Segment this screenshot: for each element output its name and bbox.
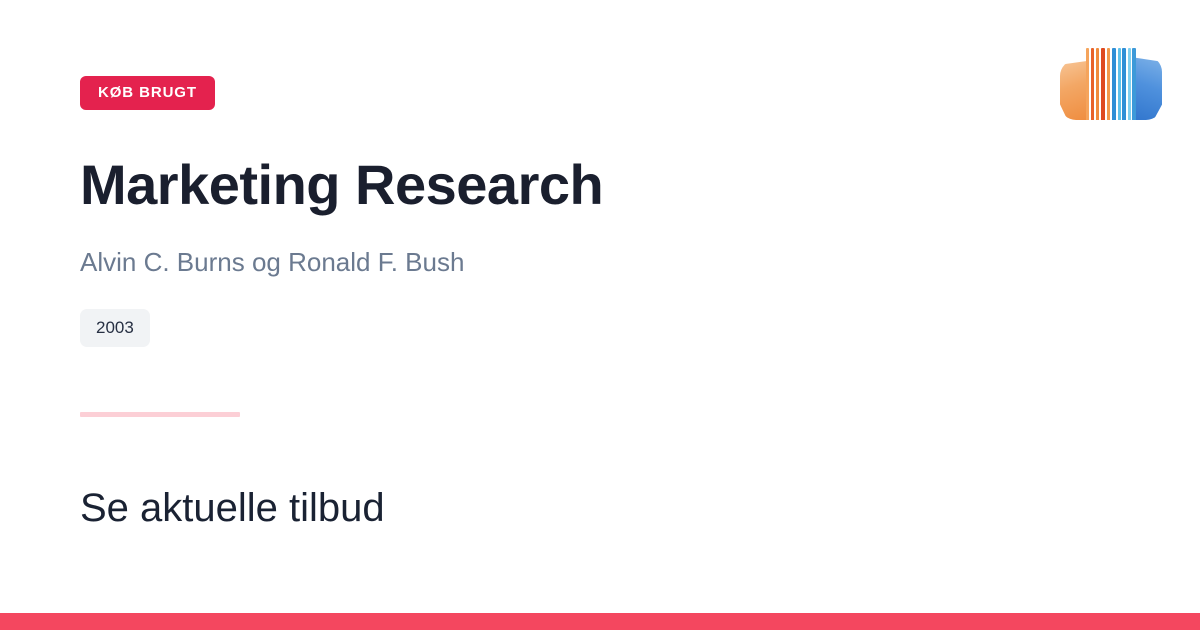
site-logo[interactable]: [1056, 48, 1164, 160]
logo-reflection-inner: [1056, 122, 1164, 158]
page-title: Marketing Research: [80, 155, 603, 215]
footer-accent-bar: [0, 613, 1200, 630]
logo-barcode-stripes-icon: [1086, 48, 1136, 120]
book-year-chip: 2003: [80, 309, 150, 347]
badge-row: KØB BRUGT: [80, 76, 215, 110]
logo-reflection: [1056, 122, 1164, 158]
logo-stripe: [1132, 48, 1136, 120]
share-card: KØB BRUGT Marketing Research Alvin C. Bu…: [0, 0, 1200, 630]
book-authors: Alvin C. Burns og Ronald F. Bush: [80, 246, 464, 280]
section-divider: [80, 412, 240, 417]
logo-mark: [1056, 48, 1164, 120]
status-badge-kob-brugt[interactable]: KØB BRUGT: [80, 76, 215, 110]
cta-se-aktuelle-tilbud[interactable]: Se aktuelle tilbud: [80, 484, 385, 532]
